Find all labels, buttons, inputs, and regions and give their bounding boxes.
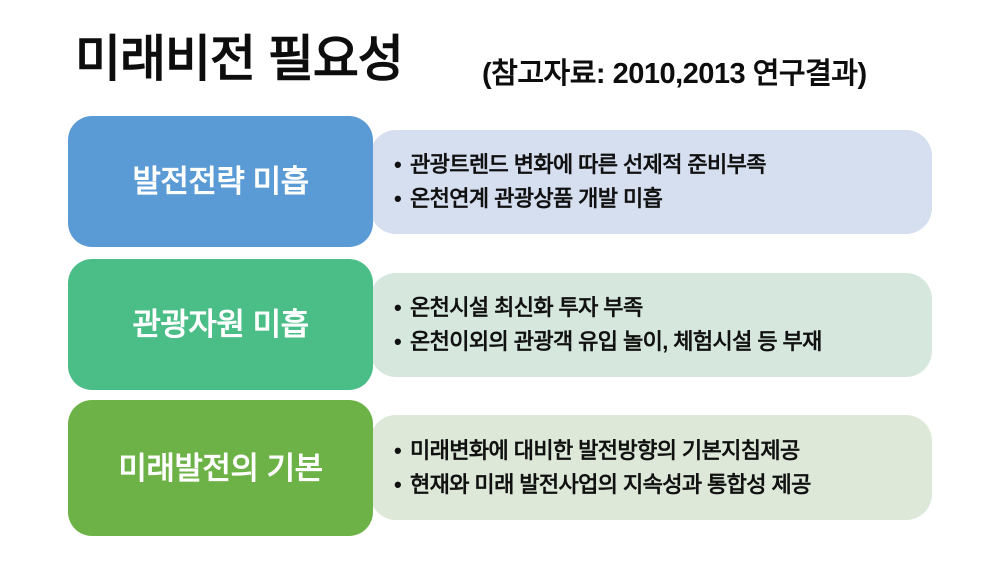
bullet-dot-icon: • [394,474,410,496]
row-label-text: 발전전략 미흡 [132,166,308,197]
row-label-text: 관광자원 미흡 [132,309,308,340]
list-item: • 미래변화에 대비한 발전방향의 기본지침제공 [394,440,932,462]
list-item-label: 온천시설 최신화 투자 부족 [410,297,643,319]
list-item-label: 관광트렌드 변화에 따른 선제적 준비부족 [410,154,766,176]
bullet-dot-icon: • [394,154,410,176]
content-row: • 미래변화에 대비한 발전방향의 기본지침제공 • 현재와 미래 발전사업의 … [0,400,1000,536]
list-item-label: 미래변화에 대비한 발전방향의 기본지침제공 [410,440,800,462]
page-title-source-note: (참고자료: 2010,2013 연구결과) [482,60,867,89]
row-label-chip: 발전전략 미흡 [68,116,373,247]
page-title: 미래비전 필요성 [75,34,403,84]
list-item-label: 온천이외의 관광객 유입 놀이, 체험시설 등 부재 [410,331,822,353]
list-item: • 온천시설 최신화 투자 부족 [394,297,932,319]
list-item: • 관광트렌드 변화에 따른 선제적 준비부족 [394,154,932,176]
bullet-dot-icon: • [394,440,410,462]
row-label-chip: 미래발전의 기본 [68,400,373,536]
slide-title-area: 미래비전 필요성 (참고자료: 2010,2013 연구결과) [0,16,1000,102]
list-item: • 온천연계 관광상품 개발 미흡 [394,188,932,210]
row-description-panel: • 온천시설 최신화 투자 부족 • 온천이외의 관광객 유입 놀이, 체험시설… [370,273,932,377]
row-label-chip: 관광자원 미흡 [68,259,373,390]
bullet-dot-icon: • [394,188,410,210]
bullet-dot-icon: • [394,297,410,319]
row-description-panel: • 관광트렌드 변화에 따른 선제적 준비부족 • 온천연계 관광상품 개발 미… [370,130,932,234]
list-item: • 현재와 미래 발전사업의 지속성과 통합성 제공 [394,474,932,496]
list-item: • 온천이외의 관광객 유입 놀이, 체험시설 등 부재 [394,331,932,353]
row-label-text: 미래발전의 기본 [118,453,322,484]
bullet-dot-icon: • [394,331,410,353]
content-row: • 온천시설 최신화 투자 부족 • 온천이외의 관광객 유입 놀이, 체험시설… [0,259,1000,391]
slide-canvas: 미래비전 필요성 (참고자료: 2010,2013 연구결과) • 관광트렌드 … [0,0,1000,563]
content-row: • 관광트렌드 변화에 따른 선제적 준비부족 • 온천연계 관광상품 개발 미… [0,116,1000,248]
row-description-panel: • 미래변화에 대비한 발전방향의 기본지침제공 • 현재와 미래 발전사업의 … [370,415,932,520]
list-item-label: 온천연계 관광상품 개발 미흡 [410,188,662,210]
list-item-label: 현재와 미래 발전사업의 지속성과 통합성 제공 [410,474,811,496]
